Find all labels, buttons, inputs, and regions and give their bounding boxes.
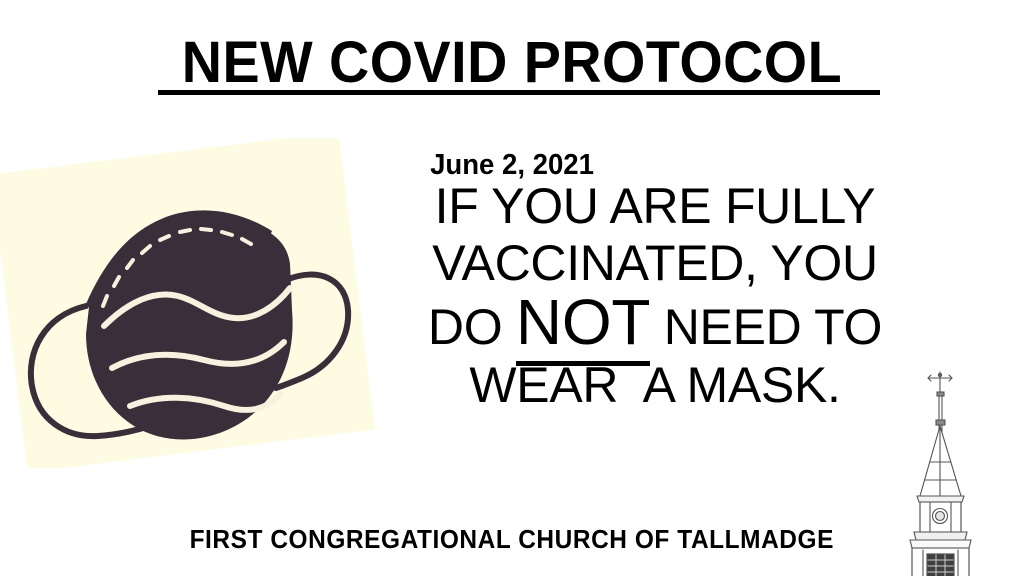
title-block: NEW COVID PROTOCOL June 2, 2021	[0, 34, 1024, 92]
message-line-3-suffix: NEED TO	[650, 299, 882, 355]
message-line-3: DO NOT NEED TO	[368, 292, 942, 358]
message-line-4: WEAR A MASK.	[368, 358, 942, 413]
organization-name: FIRST CONGREGATIONAL CHURCH OF TALLMADGE	[190, 524, 834, 554]
steeple-cupola	[917, 496, 964, 532]
footer-block: FIRST CONGREGATIONAL CHURCH OF TALLMADGE	[0, 524, 1024, 554]
steeple-belfry	[912, 548, 969, 576]
message-line-3-prefix: DO	[428, 299, 516, 355]
title-underline	[158, 90, 880, 95]
face-mask-illustration	[0, 138, 390, 468]
poster-date: June 2, 2021	[26, 149, 999, 181]
poster-canvas: NEW COVID PROTOCOL June 2, 2021 IF YOU A…	[0, 0, 1024, 576]
message-line-1: IF YOU ARE FULLY	[368, 178, 942, 235]
steeple-weathervane	[928, 372, 952, 394]
steeple-spire	[920, 426, 961, 496]
page-title: NEW COVID PROTOCOL	[182, 34, 842, 92]
church-steeple-illustration	[890, 366, 1020, 576]
message-block: IF YOU ARE FULLY VACCINATED, YOU DO NOT …	[368, 178, 942, 413]
emphasis-not: NOT	[516, 286, 650, 366]
steeple-cornice	[910, 532, 971, 548]
message-line-2: VACCINATED, YOU	[368, 235, 942, 292]
